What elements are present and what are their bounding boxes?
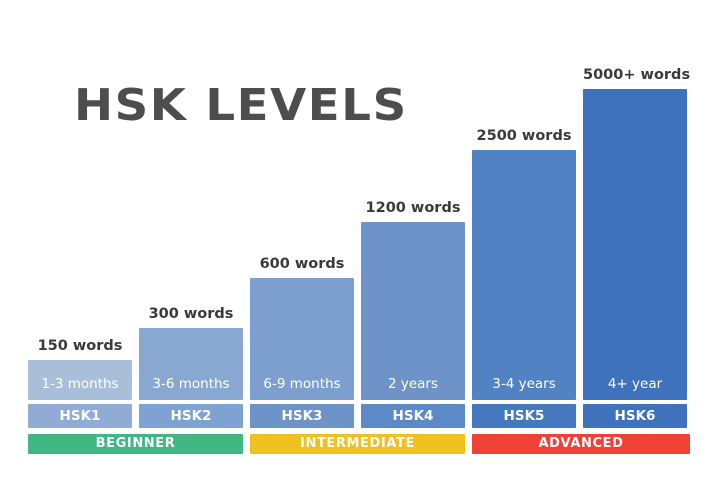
duration-label-hsk6: 4+ year bbox=[583, 376, 687, 392]
value-label-hsk4: 1200 words bbox=[361, 200, 465, 216]
band-intermediate[interactable]: INTERMEDIATE bbox=[250, 434, 465, 454]
value-label-hsk6: 5000+ words bbox=[583, 67, 687, 83]
hsk-label-hsk2[interactable]: HSK2 bbox=[139, 404, 243, 428]
duration-label-hsk2: 3-6 months bbox=[139, 376, 243, 392]
band-advanced[interactable]: ADVANCED bbox=[472, 434, 690, 454]
duration-label-hsk4: 2 years bbox=[361, 376, 465, 392]
bar-hsk4[interactable]: 2 years bbox=[361, 222, 465, 400]
bar-hsk2[interactable]: 3-6 months bbox=[139, 328, 243, 400]
bar-hsk5[interactable]: 3-4 years bbox=[472, 150, 576, 400]
hsk-level-label-row: HSK1 HSK2 HSK3 HSK4 HSK5 HSK6 bbox=[28, 404, 690, 428]
value-label-hsk2: 300 words bbox=[139, 306, 243, 322]
duration-label-hsk1: 1-3 months bbox=[28, 376, 132, 392]
bar-hsk3[interactable]: 6-9 months bbox=[250, 278, 354, 400]
hsk-label-hsk3[interactable]: HSK3 bbox=[250, 404, 354, 428]
hsk-label-hsk6[interactable]: HSK6 bbox=[583, 404, 687, 428]
hsk-label-hsk1[interactable]: HSK1 bbox=[28, 404, 132, 428]
duration-label-hsk3: 6-9 months bbox=[250, 376, 354, 392]
band-beginner[interactable]: BEGINNER bbox=[28, 434, 243, 454]
value-label-hsk3: 600 words bbox=[250, 256, 354, 272]
bar-hsk6[interactable]: 4+ year bbox=[583, 89, 687, 400]
bar-hsk1[interactable]: 1-3 months bbox=[28, 360, 132, 400]
proficiency-band-row: BEGINNER INTERMEDIATE ADVANCED bbox=[28, 434, 690, 454]
duration-label-hsk5: 3-4 years bbox=[472, 376, 576, 392]
value-label-hsk1: 150 words bbox=[28, 338, 132, 354]
bar-chart-plot-area: 150 words 1-3 months 300 words 3-6 month… bbox=[28, 40, 690, 400]
hsk-levels-infographic: HSK LEVELS 150 words 1-3 months 300 word… bbox=[0, 0, 720, 480]
value-label-hsk5: 2500 words bbox=[472, 128, 576, 144]
hsk-label-hsk4[interactable]: HSK4 bbox=[361, 404, 465, 428]
hsk-label-hsk5[interactable]: HSK5 bbox=[472, 404, 576, 428]
